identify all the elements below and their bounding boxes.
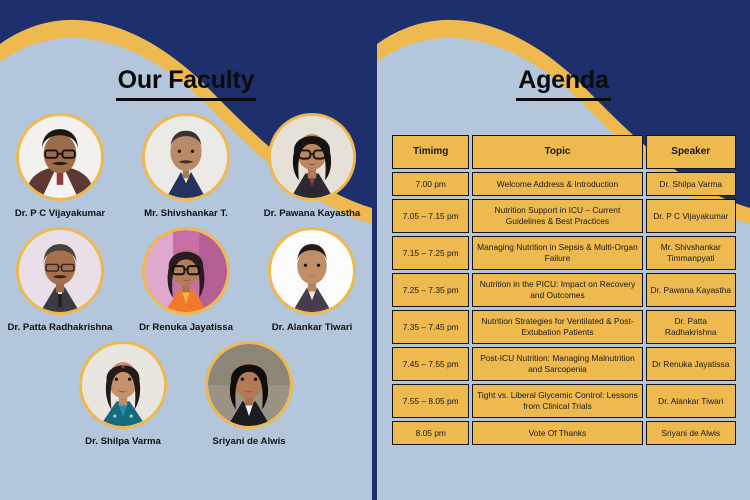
column-header-speaker: Speaker xyxy=(646,135,737,169)
table-row: 8.05 pm Vote Of Thanks Sriyani de Alwis xyxy=(392,421,736,445)
cell-topic: Vote Of Thanks xyxy=(472,421,642,445)
faculty-name: Dr. Patta Radhakrishna xyxy=(7,322,112,333)
faculty-name: Dr Renuka Jayatissa xyxy=(139,322,233,333)
agenda-title-text: Agenda xyxy=(516,67,610,101)
faculty-title-text: Our Faculty xyxy=(116,67,257,101)
table-row: 7.05 – 7.15 pm Nutrition Support in ICU … xyxy=(392,199,736,233)
portrait-photo xyxy=(145,116,227,198)
avatar xyxy=(142,113,230,201)
table-row: 7.15 – 7.25 pm Managing Nutrition in Sep… xyxy=(392,236,736,270)
cell-time: 7.05 – 7.15 pm xyxy=(392,199,469,233)
faculty-card[interactable]: Dr Renuka Jayatissa xyxy=(130,227,242,333)
table-row: 7.00 pm Welcome Address & Introduction D… xyxy=(392,172,736,196)
cell-time: 7.35 – 7.45 pm xyxy=(392,310,469,344)
table-row: 7.25 – 7.35 pm Nutrition in the PICU: Im… xyxy=(392,273,736,307)
cell-time: 7.25 – 7.35 pm xyxy=(392,273,469,307)
agenda-table: Timimg Topic Speaker 7.00 pm Welcome Add… xyxy=(389,132,739,448)
avatar xyxy=(142,227,230,315)
cell-topic: Nutrition Support in ICU – Current Guide… xyxy=(472,199,642,233)
event-poster: Our Faculty xyxy=(0,0,750,500)
portrait-photo xyxy=(208,344,290,426)
portrait-photo xyxy=(82,344,164,426)
cell-topic: Welcome Address & Introduction xyxy=(472,172,642,196)
faculty-row: Dr. Patta Radhakrishna xyxy=(0,227,372,333)
table-row: 7.55 – 8.05 pm Tight vs. Liberal Glycemi… xyxy=(392,384,736,418)
avatar xyxy=(268,113,356,201)
faculty-name: Dr. Shilpa Varma xyxy=(85,436,161,447)
portrait-photo xyxy=(271,116,353,198)
faculty-row: Dr. Shilpa Varma xyxy=(0,341,372,447)
faculty-panel: Our Faculty xyxy=(0,0,372,500)
cell-speaker: Dr. Shilpa Varma xyxy=(646,172,737,196)
cell-time: 7.45 – 7.55 pm xyxy=(392,347,469,381)
cell-speaker: Dr. P C Vijayakumar xyxy=(646,199,737,233)
portrait-photo xyxy=(19,230,101,312)
agenda-section-title: Agenda xyxy=(377,66,750,101)
cell-speaker: Dr. Pawana Kayastha xyxy=(646,273,737,307)
avatar xyxy=(16,227,104,315)
faculty-card[interactable]: Sriyani de Alwis xyxy=(193,341,305,447)
cell-time: 7.00 pm xyxy=(392,172,469,196)
avatar xyxy=(79,341,167,429)
cell-speaker: Dr Renuka Jayatissa xyxy=(646,347,737,381)
portrait-photo xyxy=(145,230,227,312)
cell-time: 7.15 – 7.25 pm xyxy=(392,236,469,270)
portrait-photo xyxy=(19,116,101,198)
agenda-table-body: 7.00 pm Welcome Address & Introduction D… xyxy=(392,172,736,445)
faculty-card[interactable]: Dr. Patta Radhakrishna xyxy=(4,227,116,333)
agenda-header-row: Timimg Topic Speaker xyxy=(392,135,736,169)
cell-speaker: Sriyani de Alwis xyxy=(646,421,737,445)
cell-topic: Tight vs. Liberal Glycemic Control: Less… xyxy=(472,384,642,418)
cell-topic: Managing Nutrition in Sepsis & Multi-Org… xyxy=(472,236,642,270)
agenda-table-head: Timimg Topic Speaker xyxy=(392,135,736,169)
faculty-name: Sriyani de Alwis xyxy=(212,436,285,447)
faculty-name: Dr. Alankar Tiwari xyxy=(272,322,353,333)
faculty-card[interactable]: Mr. Shivshankar T. xyxy=(130,113,242,219)
cell-speaker: Mr. Shivshankar Timmanpyati xyxy=(646,236,737,270)
column-header-timing: Timimg xyxy=(392,135,469,169)
avatar xyxy=(205,341,293,429)
cell-time: 7.55 – 8.05 pm xyxy=(392,384,469,418)
cell-time: 8.05 pm xyxy=(392,421,469,445)
faculty-section-title: Our Faculty xyxy=(0,66,372,101)
avatar xyxy=(16,113,104,201)
faculty-row: Dr. P C Vijayakumar xyxy=(0,113,372,219)
cell-topic: Nutrition Strategies for Ventilated & Po… xyxy=(472,310,642,344)
cell-topic: Post-ICU Nutrition: Managing Malnutritio… xyxy=(472,347,642,381)
cell-topic: Nutrition in the PICU: Impact on Recover… xyxy=(472,273,642,307)
faculty-grid: Dr. P C Vijayakumar xyxy=(0,113,372,455)
table-row: 7.35 – 7.45 pm Nutrition Strategies for … xyxy=(392,310,736,344)
faculty-name: Dr. Pawana Kayastha xyxy=(264,208,361,219)
cell-speaker: Dr. Patta Radhakrishna xyxy=(646,310,737,344)
faculty-card[interactable]: Dr. P C Vijayakumar xyxy=(4,113,116,219)
faculty-card[interactable]: Dr. Pawana Kayastha xyxy=(256,113,368,219)
faculty-card[interactable]: Dr. Shilpa Varma xyxy=(67,341,179,447)
table-row: 7.45 – 7.55 pm Post-ICU Nutrition: Manag… xyxy=(392,347,736,381)
faculty-card[interactable]: Dr. Alankar Tiwari xyxy=(256,227,368,333)
cell-speaker: Dr. Alankar Tiwari xyxy=(646,384,737,418)
faculty-name: Mr. Shivshankar T. xyxy=(144,208,228,219)
portrait-photo xyxy=(271,230,353,312)
faculty-name: Dr. P C Vijayakumar xyxy=(15,208,105,219)
column-header-topic: Topic xyxy=(472,135,642,169)
avatar xyxy=(268,227,356,315)
agenda-panel: Agenda Timimg Topic Speaker 7.00 pm Welc… xyxy=(377,0,750,500)
